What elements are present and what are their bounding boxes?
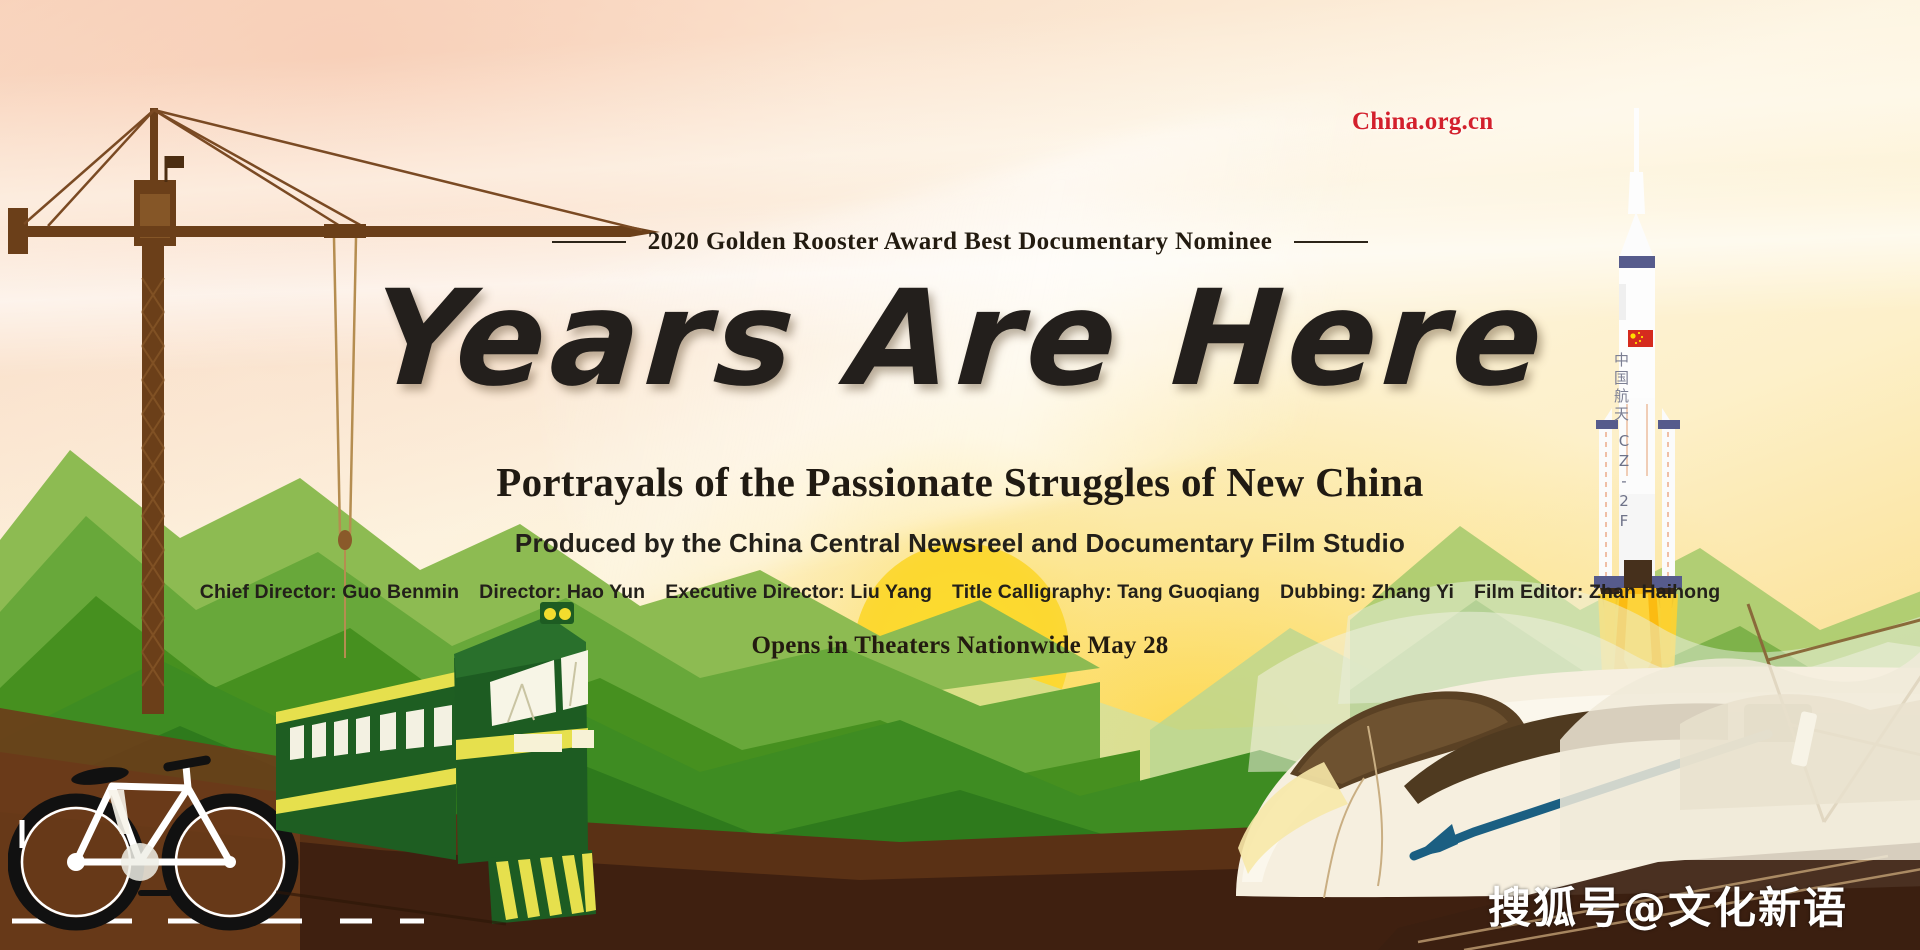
bicycle-chainring <box>121 843 159 881</box>
rocket-band-booster-right <box>1658 420 1680 429</box>
bicycle-stem <box>186 766 188 788</box>
crane-apex-post <box>150 108 158 184</box>
movie-poster: 中国航天 CZ-2F <box>0 0 1920 950</box>
china-org-watermark: China.org.cn <box>1352 108 1493 136</box>
train-rail <box>276 892 506 924</box>
page-title: Years Are Here <box>0 270 1920 409</box>
crew-credit-item: Chief Director: Guo Benmin <box>200 581 459 604</box>
producer-credit: Produced by the China Central Newsreel a… <box>0 528 1920 559</box>
right-rock-forms <box>1560 560 1920 860</box>
bicycle-pedal <box>138 890 172 896</box>
bicycle-front-hub <box>224 856 236 868</box>
bicycle <box>8 730 308 935</box>
award-nomination-text: 2020 Golden Rooster Award Best Documenta… <box>648 228 1273 256</box>
poster-subtitle: Portrayals of the Passionate Struggles o… <box>0 458 1920 506</box>
release-date-text: Opens in Theaters Nationwide May 28 <box>0 632 1920 660</box>
rocket-band-upper <box>1619 256 1655 268</box>
train-headlight-b <box>559 608 571 620</box>
award-row: 2020 Golden Rooster Award Best Documenta… <box>0 228 1920 256</box>
bicycle-rear-hub <box>67 853 85 871</box>
train-headlight-a <box>544 608 556 620</box>
crane-flag <box>166 156 184 168</box>
crane-cables <box>24 110 642 230</box>
award-rule-right <box>1294 241 1368 243</box>
rocket-escape-spire <box>1634 108 1639 172</box>
train-front-panel-b <box>572 730 594 748</box>
crew-credit-item: Director: Hao Yun <box>479 581 645 604</box>
rocket-escape-tower <box>1628 172 1645 214</box>
crew-credits: Chief Director: Guo Benmin Director: Hao… <box>0 581 1920 604</box>
classic-green-train <box>276 562 606 950</box>
sohu-watermark: 搜狐号@文化新语 <box>1488 874 1848 936</box>
crew-credit-item: Executive Director: Liu Yang <box>665 581 932 604</box>
award-rule-left <box>552 241 626 243</box>
crew-credit-item: Dubbing: Zhang Yi <box>1280 581 1454 604</box>
train-front-panel <box>514 734 562 752</box>
crew-credit-item: Title Calligraphy: Tang Guoqiang <box>952 581 1260 604</box>
crew-credit-item: Film Editor: Zhan Haihong <box>1474 581 1720 604</box>
